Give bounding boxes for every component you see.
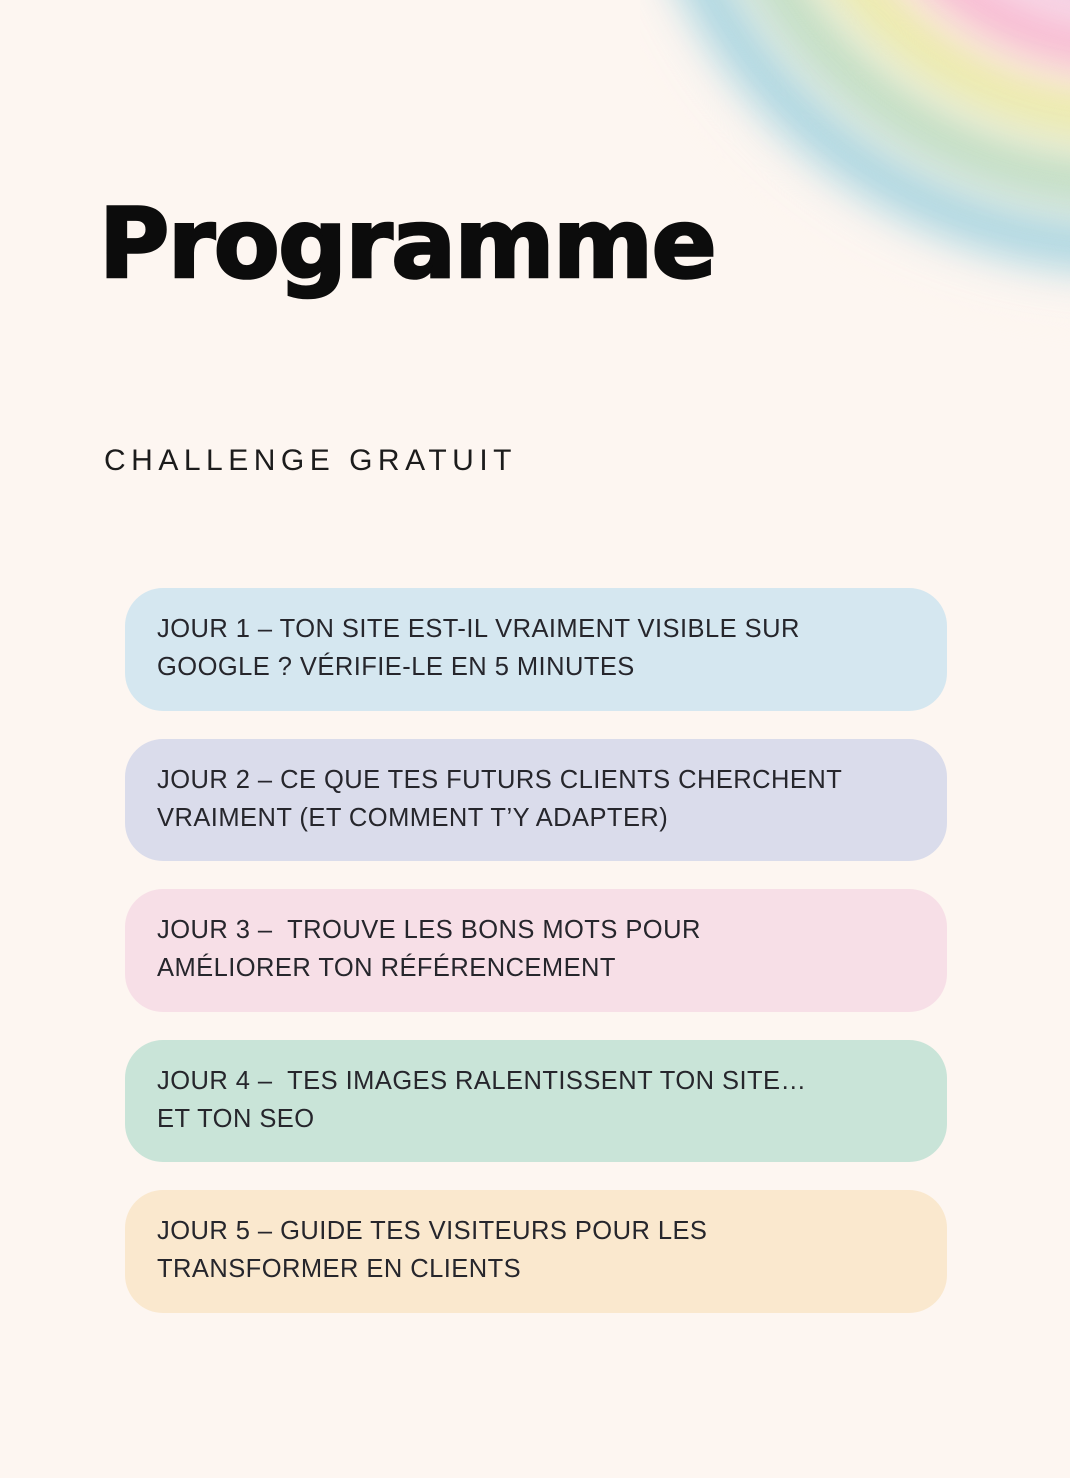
page-title: Programme: [99, 196, 715, 292]
programme-card-text: JOUR 3 – TROUVE LES BONS MOTS POUR AMÉLI…: [157, 911, 913, 988]
rainbow-ring: [706, 0, 1070, 194]
programme-card-text: JOUR 5 – GUIDE TES VISITEURS POUR LES TR…: [157, 1212, 913, 1289]
programme-card[interactable]: JOUR 1 – TON SITE EST-IL VRAIMENT VISIBL…: [125, 588, 947, 711]
programme-card[interactable]: JOUR 4 – TES IMAGES RALENTISSENT TON SIT…: [125, 1040, 947, 1163]
programme-list: JOUR 1 – TON SITE EST-IL VRAIMENT VISIBL…: [125, 588, 947, 1341]
programme-card-text: JOUR 1 – TON SITE EST-IL VRAIMENT VISIBL…: [157, 610, 913, 687]
rainbow-ring: [739, 0, 1070, 161]
programme-card[interactable]: JOUR 5 – GUIDE TES VISITEURS POUR LES TR…: [125, 1190, 947, 1313]
programme-card[interactable]: JOUR 3 – TROUVE LES BONS MOTS POUR AMÉLI…: [125, 889, 947, 1012]
rainbow-ring: [673, 0, 1070, 227]
programme-card[interactable]: JOUR 2 – CE QUE TES FUTURS CLIENTS CHERC…: [125, 739, 947, 862]
page-subtitle: CHALLENGE GRATUIT: [104, 444, 517, 478]
rainbow-ring: [872, 0, 1070, 28]
programme-card-text: JOUR 2 – CE QUE TES FUTURS CLIENTS CHERC…: [157, 761, 913, 838]
rainbow-ring: [840, 0, 1070, 60]
rainbow-ring: [806, 0, 1070, 94]
rainbow-ring: [772, 0, 1070, 128]
programme-card-text: JOUR 4 – TES IMAGES RALENTISSENT TON SIT…: [157, 1062, 913, 1139]
